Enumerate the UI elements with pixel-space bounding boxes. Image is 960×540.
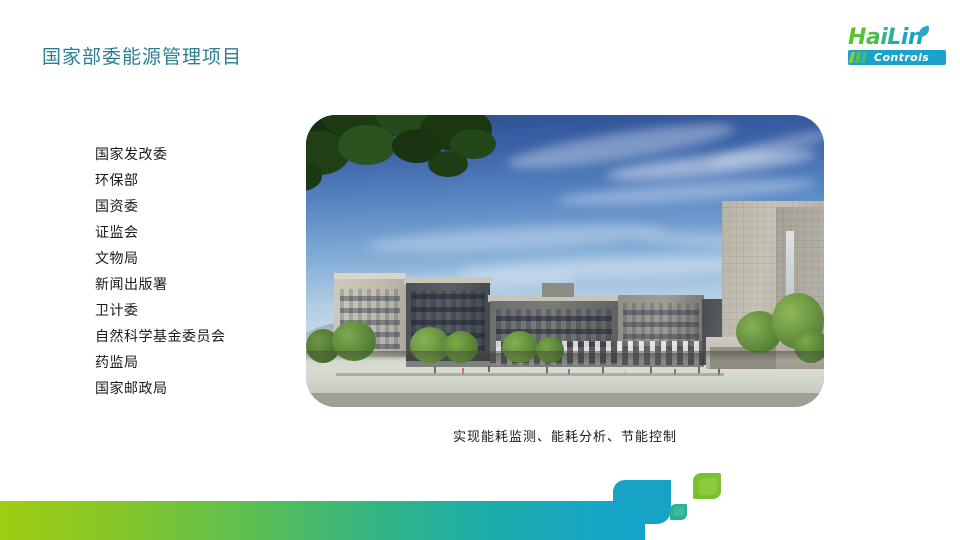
photo-foreground <box>306 393 824 407</box>
building-penthouse <box>542 283 574 297</box>
signal-bars-icon <box>850 52 870 63</box>
photo-caption: 实现能耗监测、能耗分析、节能控制 <box>306 426 824 445</box>
brand-subword: Controls <box>874 51 929 64</box>
brand-logo[interactable]: HaiLin Controls <box>842 26 946 70</box>
list-item: 证监会 <box>95 220 295 246</box>
brand-banner: Controls <box>848 50 946 65</box>
ground-shadow <box>306 351 824 361</box>
pedestrian <box>488 366 490 372</box>
plaza-seam <box>336 373 724 376</box>
brand-wordmark: HaiLin <box>848 26 923 50</box>
list-item: 国家邮政局 <box>95 376 295 402</box>
list-item: 环保部 <box>95 168 295 194</box>
list-item: 卫计委 <box>95 298 295 324</box>
footer-gradient-bar <box>0 501 645 540</box>
page-title: 国家部委能源管理项目 <box>42 42 242 69</box>
list-item: 药监局 <box>95 350 295 376</box>
tree-canopy-overlay <box>306 115 510 195</box>
list-item: 国家发改委 <box>95 142 295 168</box>
footer-decoration <box>0 460 960 540</box>
list-item: 国资委 <box>95 194 295 220</box>
decor-square-green-inner <box>699 478 717 495</box>
agency-list: 国家发改委 环保部 国资委 证监会 文物局 新闻出版署 卫计委 自然科学基金委员… <box>95 142 295 402</box>
decor-square-teal-inner <box>674 507 684 516</box>
slide-canvas: 国家部委能源管理项目 HaiLin Controls 国家发改委 环保部 国资委… <box>0 0 960 540</box>
list-item: 新闻出版署 <box>95 272 295 298</box>
project-photo <box>306 115 824 407</box>
list-item: 自然科学基金委员会 <box>95 324 295 350</box>
list-item: 文物局 <box>95 246 295 272</box>
